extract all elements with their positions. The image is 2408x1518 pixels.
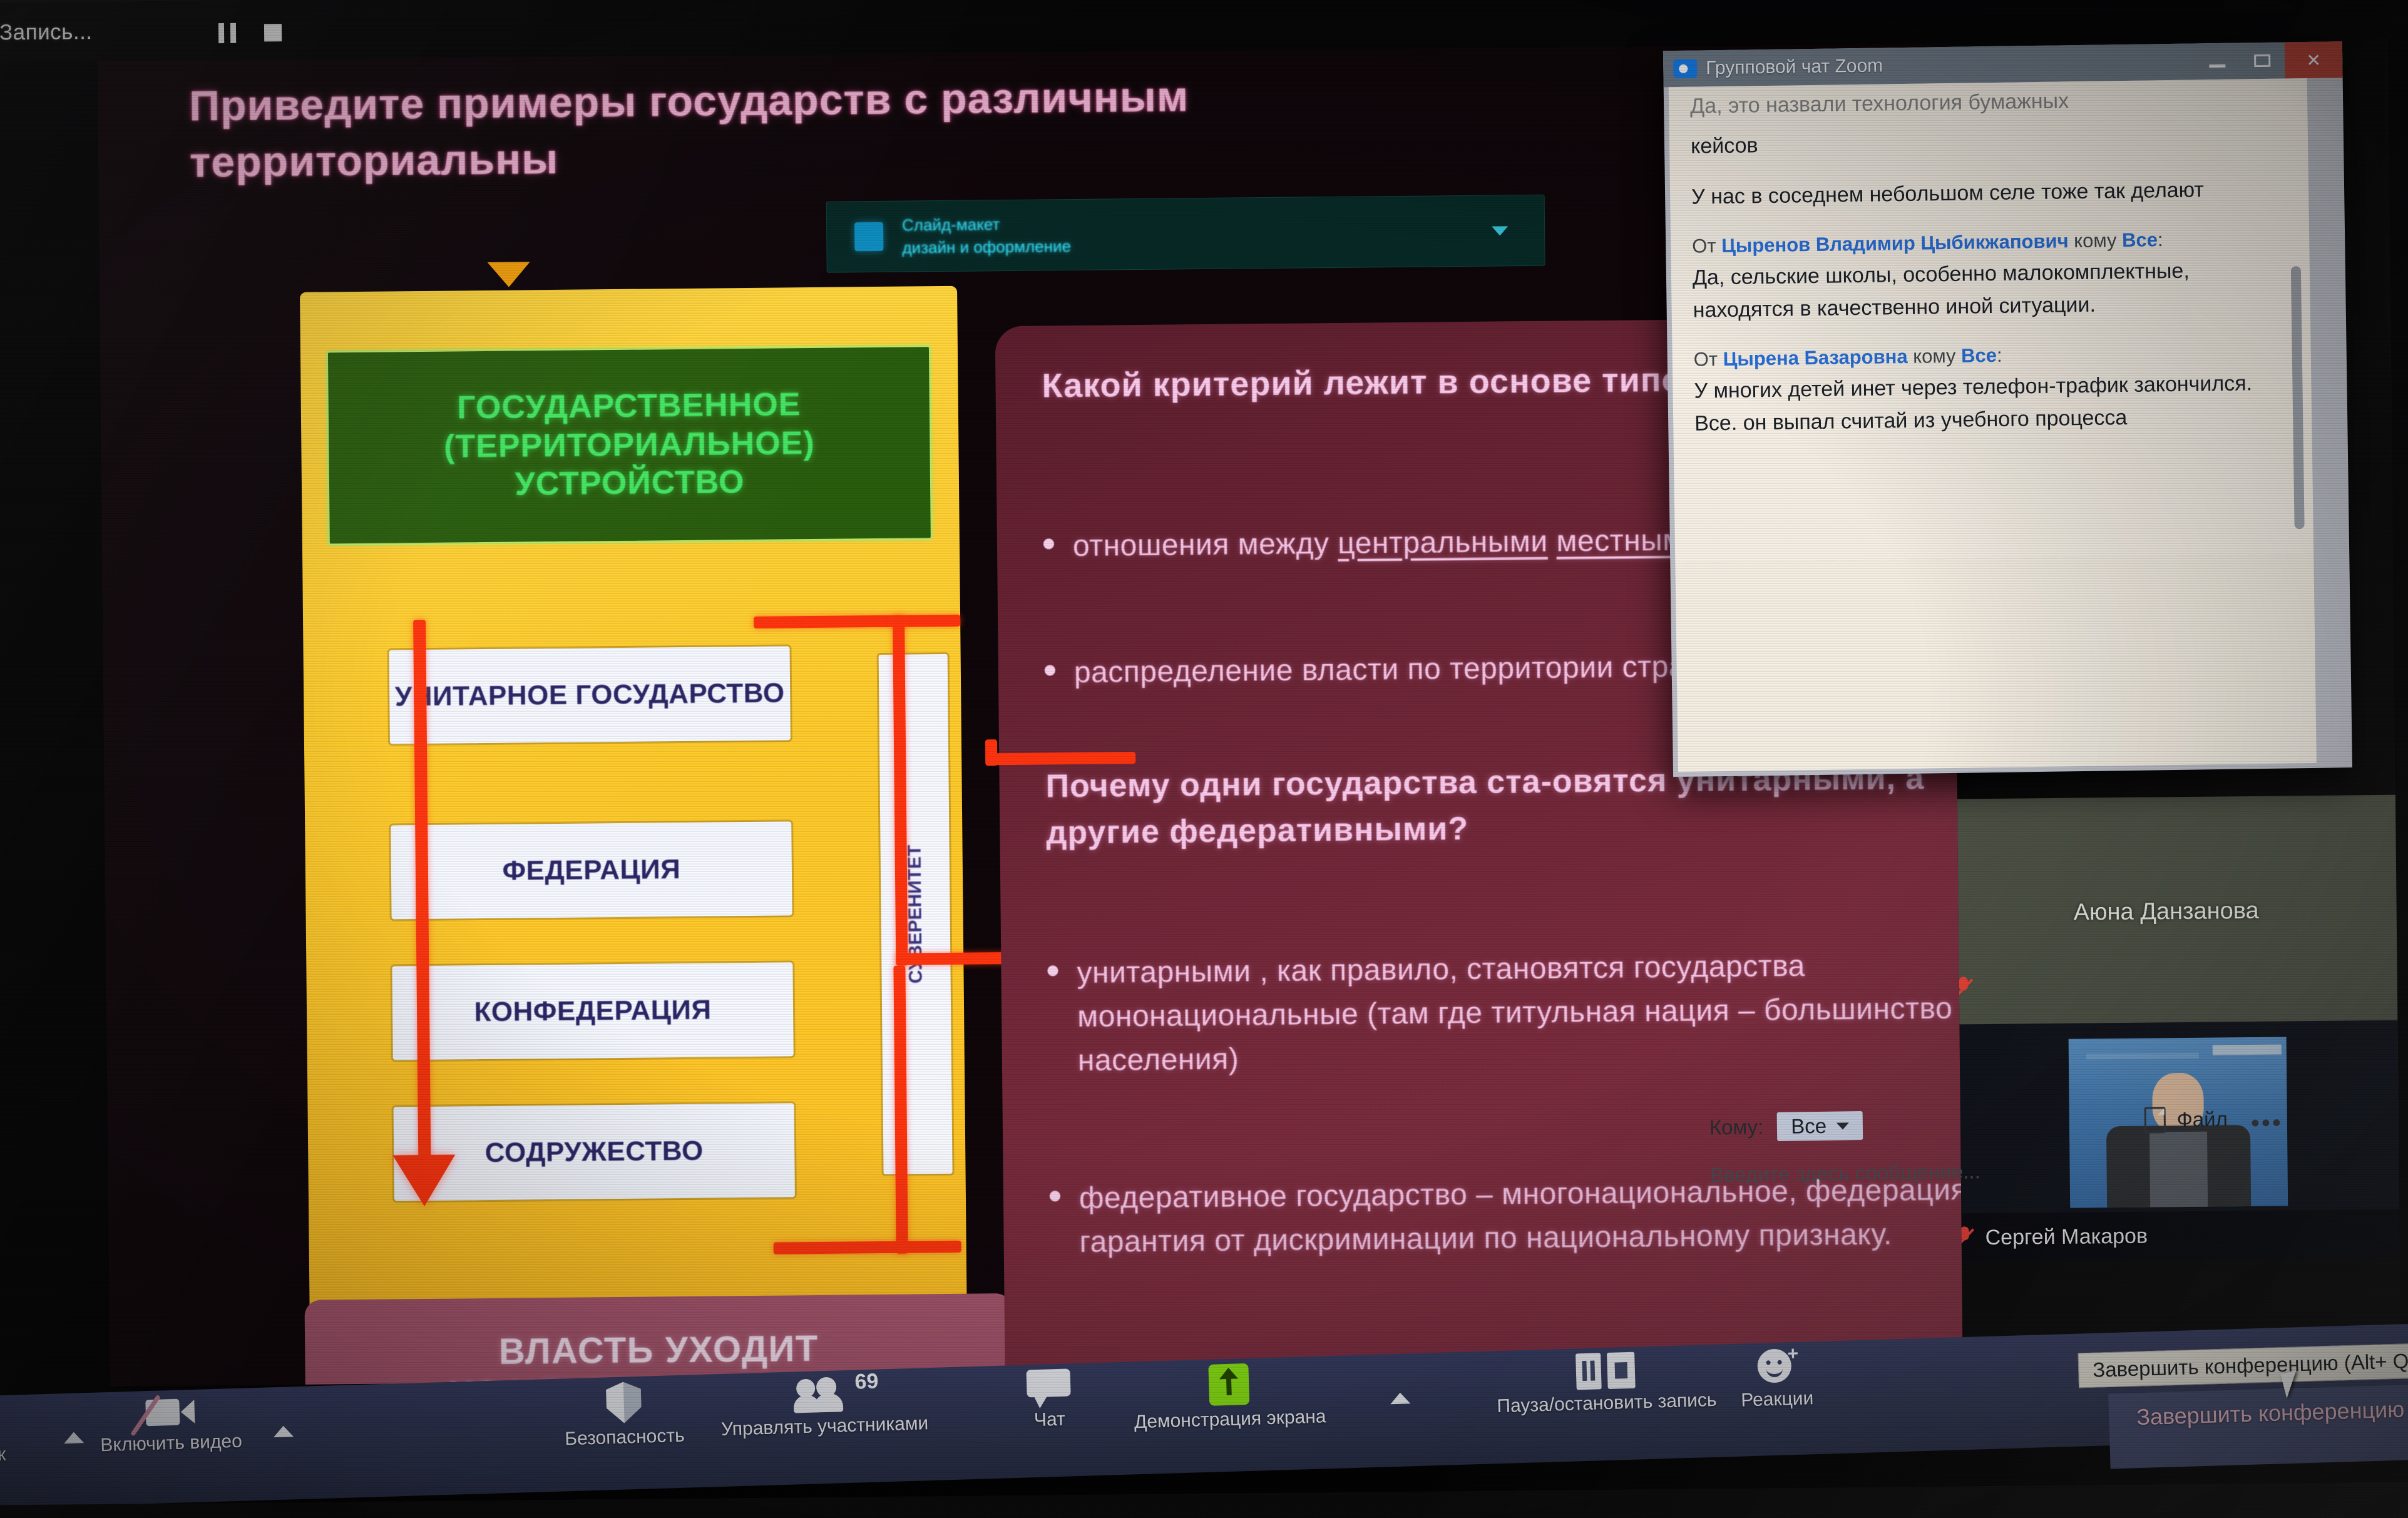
slide-layout-dropdown[interactable]: Слайд-макет дизайн и оформление bbox=[826, 195, 1545, 273]
diagram-root-box: ГОСУДАРСТВЕННОЕ (ТЕРРИТОРИАЛЬНОЕ) УСТРОЙ… bbox=[325, 344, 933, 546]
camera-off-icon bbox=[145, 1395, 195, 1430]
chat-file-label: Файл bbox=[2176, 1107, 2228, 1132]
chat-message-list[interactable]: Да, это назвали технология бумажных кейс… bbox=[1669, 78, 2314, 563]
slide-dropdown-line2: дизайн и оформление bbox=[902, 235, 1071, 259]
participant-name: Сергей Макаров bbox=[1985, 1224, 2148, 1249]
slide-bullet-3: унитарными , как правило, становятся гос… bbox=[1047, 942, 1962, 1083]
participant-name: Аюна Данзанова bbox=[2073, 898, 2258, 926]
chat-bubble-icon bbox=[1026, 1368, 1071, 1406]
security-button-label: Безопасность bbox=[565, 1425, 685, 1450]
chat-message-cut: Да, это назвали технология бумажных bbox=[1690, 82, 2287, 123]
chat-from-prefix: От bbox=[1692, 235, 1721, 257]
chat-message-sender: От Цырена Базаровна кому Все: bbox=[1693, 337, 2290, 373]
share-screen-icon bbox=[1209, 1363, 1250, 1406]
bullet-dot-icon bbox=[1045, 665, 1055, 675]
zoom-camera-icon bbox=[1673, 59, 1697, 79]
chevron-down-icon bbox=[1492, 226, 1508, 235]
chat-scrollbar[interactable] bbox=[2291, 266, 2305, 529]
participant-count: 69 bbox=[854, 1369, 879, 1394]
diagram-type-label: ФЕДЕРАЦИЯ bbox=[502, 854, 680, 886]
chevron-up-icon[interactable] bbox=[274, 1425, 294, 1437]
chat-message: кейсов bbox=[1691, 122, 2287, 163]
chat-sender-name[interactable]: Цыренов Владимир Цыбикжапович bbox=[1721, 230, 2069, 257]
people-icon: 69 bbox=[794, 1375, 853, 1413]
manage-participants-button[interactable]: 69 Управлять участниками bbox=[720, 1373, 929, 1440]
slide-dropdown-line1: Слайд-макет bbox=[902, 212, 1071, 237]
chat-target-name[interactable]: Все bbox=[2122, 228, 2158, 251]
annotation-arrowhead bbox=[392, 1155, 456, 1207]
chat-button-label: Чат bbox=[1033, 1409, 1065, 1431]
reactions-button[interactable]: + Реакции bbox=[1739, 1346, 1814, 1411]
participants-button-label: Управлять участниками bbox=[721, 1413, 929, 1440]
end-meeting-button[interactable]: Завершить конференцию bbox=[2108, 1384, 2408, 1469]
diagram-root-line3: УСТРОЙСТВО bbox=[515, 463, 744, 504]
end-meeting-tooltip-text: Завершить конференцию (Alt+ Q) bbox=[2093, 1349, 2408, 1382]
chat-message: Да, сельские школы, особенно малокомплек… bbox=[1693, 254, 2289, 327]
recording-status-label: Запись... bbox=[0, 19, 93, 45]
end-meeting-label: Завершить конференцию bbox=[2136, 1397, 2405, 1431]
record-button-label: Пауза/остановить запись bbox=[1497, 1390, 1717, 1417]
toggle-video-button[interactable]: Включить видео bbox=[99, 1393, 242, 1457]
chat-message-sender: От Цыренов Владимир Цыбикжапович кому Вс… bbox=[1692, 224, 2288, 260]
slide-bullet-1-u1: центральными bbox=[1338, 525, 1548, 560]
minimize-icon[interactable] bbox=[2195, 43, 2240, 79]
chevron-down-icon bbox=[1837, 1122, 1849, 1129]
chat-file-button[interactable]: Файл bbox=[2144, 1106, 2228, 1134]
close-icon[interactable]: ✕ bbox=[2285, 41, 2343, 78]
bullet-dot-icon bbox=[1047, 965, 1058, 976]
maximize-icon[interactable] bbox=[2240, 42, 2285, 79]
slide-bullet-2-text: распределение власти по территории стран… bbox=[1074, 645, 1734, 695]
chevron-up-icon[interactable] bbox=[1390, 1392, 1411, 1404]
pause-stop-recording-button[interactable]: Пауза/остановить запись bbox=[1495, 1350, 1717, 1417]
diagram-type-box: КОНФЕДЕРАЦИЯ bbox=[390, 960, 795, 1062]
audio-button-label: к bbox=[0, 1444, 6, 1465]
diagram-type-label: УНИТАРНОЕ ГОСУДАРСТВО bbox=[395, 678, 785, 712]
video-bg-detail bbox=[2086, 1053, 2199, 1060]
chat-from-prefix: От bbox=[1694, 348, 1723, 371]
diagram-root-line2: (ТЕРРИТОРИАЛЬНОЕ) bbox=[444, 424, 815, 466]
stop-recording-button[interactable] bbox=[264, 24, 282, 41]
reaction-smiley-icon: + bbox=[1757, 1347, 1796, 1386]
chat-recipient-label: Кому: bbox=[1709, 1115, 1764, 1139]
annotation-stroke bbox=[896, 952, 1008, 965]
shield-icon bbox=[605, 1382, 642, 1424]
video-button-label: Включить видео bbox=[100, 1431, 242, 1457]
bullet-dot-icon bbox=[1050, 1191, 1060, 1201]
video-bg-detail bbox=[2213, 1045, 2282, 1055]
file-icon bbox=[2144, 1107, 2166, 1133]
chat-button[interactable]: Чат bbox=[1026, 1368, 1072, 1431]
chat-target-name[interactable]: Все bbox=[1961, 344, 1997, 367]
diagram-root-line1: ГОСУДАРСТВЕННОЕ bbox=[457, 386, 801, 428]
slide-pointer-caret bbox=[488, 262, 530, 287]
share-button-label: Демонстрация экрана bbox=[1134, 1406, 1326, 1433]
diagram-conclusion-line1: ВЛАСТЬ УХОДИТ bbox=[499, 1328, 819, 1373]
chat-compose-area: Кому: Все Файл ••• Введите здесь сообщен… bbox=[1675, 554, 2317, 772]
diagram-type-label: КОНФЕДЕРАЦИЯ bbox=[474, 995, 712, 1028]
annotation-stroke bbox=[774, 1241, 961, 1254]
chat-message: У многих детей инет через телефон-трафик… bbox=[1694, 367, 2290, 441]
annotation-stroke bbox=[754, 615, 960, 628]
participant-tile-self[interactable]: Сергей Макаров bbox=[1937, 1020, 2400, 1263]
chat-sender-name[interactable]: Цырена Базаровна bbox=[1723, 346, 1907, 370]
chat-recipient-value: Все bbox=[1791, 1114, 1826, 1139]
share-screen-button[interactable]: Демонстрация экрана bbox=[1132, 1361, 1326, 1433]
reactions-button-label: Реакции bbox=[1741, 1388, 1814, 1411]
chat-to-word: кому bbox=[1907, 344, 1961, 367]
chat-colon: : bbox=[2158, 228, 2163, 250]
diagram-type-box: УНИТАРНОЕ ГОСУДАРСТВО bbox=[387, 644, 792, 746]
pause-stop-icon bbox=[1575, 1352, 1637, 1390]
slide-bullet-1-a: отношения между bbox=[1073, 527, 1338, 563]
chat-recipient-selector[interactable]: Кому: Все bbox=[1709, 1111, 1863, 1142]
chevron-up-icon[interactable] bbox=[64, 1432, 85, 1444]
group-chat-window[interactable]: Групповой чат Zoom ✕ Да, это назвали тех… bbox=[1663, 41, 2352, 777]
chat-colon: : bbox=[1997, 344, 2002, 366]
slide-thumb-icon bbox=[854, 222, 883, 251]
pause-recording-button[interactable] bbox=[218, 23, 236, 43]
security-button[interactable]: Безопасность bbox=[563, 1380, 685, 1450]
slide-bullet-3-text: унитарными , как правило, становятся гос… bbox=[1077, 942, 1962, 1083]
chat-to-word: кому bbox=[2068, 229, 2122, 252]
diagram-type-label: СОДРУЖЕСТВО bbox=[485, 1136, 704, 1169]
chat-recipient-dropdown[interactable]: Все bbox=[1777, 1111, 1863, 1141]
diagram-type-box: ФЕДЕРАЦИЯ bbox=[389, 819, 794, 921]
chat-message: У нас в соседнем небольшом селе тоже так… bbox=[1691, 173, 2288, 214]
annotation-stroke bbox=[985, 739, 997, 766]
more-options-icon[interactable]: ••• bbox=[2251, 1109, 2283, 1138]
diagram-vertical-strip: СУВЕРЕНИТЕТ bbox=[877, 652, 955, 1176]
participant-name-bar: Сергей Макаров bbox=[1939, 1209, 2400, 1263]
bullet-dot-icon bbox=[1043, 538, 1054, 549]
chat-window-title: Групповой чат Zoom bbox=[1706, 55, 1883, 79]
slide-title: Приведите примеры государств с различным… bbox=[189, 66, 1536, 191]
